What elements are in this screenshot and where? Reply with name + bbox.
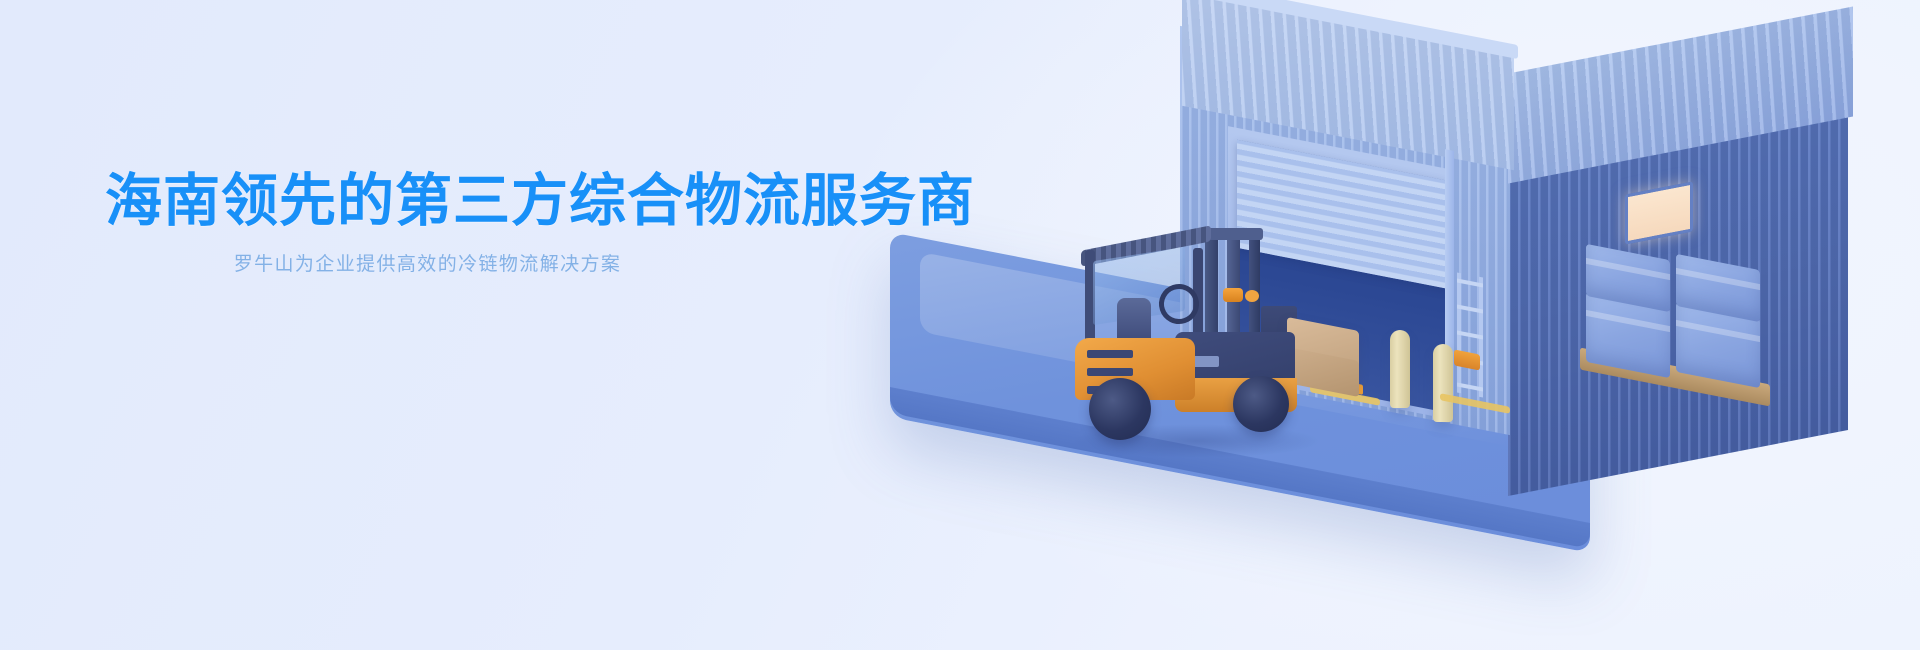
driver-seat	[1117, 298, 1151, 342]
hero-text-block: 海南领先的第三方综合物流服务商 罗牛山为企业提供高效的冷链物流解决方案	[105, 168, 955, 280]
forklift-tire	[1233, 376, 1289, 432]
forklift-lamp	[1223, 288, 1243, 302]
forklift	[1075, 228, 1375, 453]
page-subtitle: 罗牛山为企业提供高效的冷链物流解决方案	[105, 251, 955, 280]
hero-banner: 海南领先的第三方综合物流服务商 罗牛山为企业提供高效的冷链物流解决方案	[0, 0, 1920, 650]
page-title: 海南领先的第三方综合物流服务商	[105, 168, 955, 235]
bollard	[1390, 330, 1410, 408]
forklift-badge	[1193, 356, 1219, 367]
bollard	[1433, 344, 1453, 422]
warehouse-illustration	[880, 0, 1920, 650]
forklift-tire	[1089, 378, 1151, 440]
wall-ladder-icon	[1457, 272, 1483, 397]
forklift-beacon	[1245, 290, 1259, 302]
